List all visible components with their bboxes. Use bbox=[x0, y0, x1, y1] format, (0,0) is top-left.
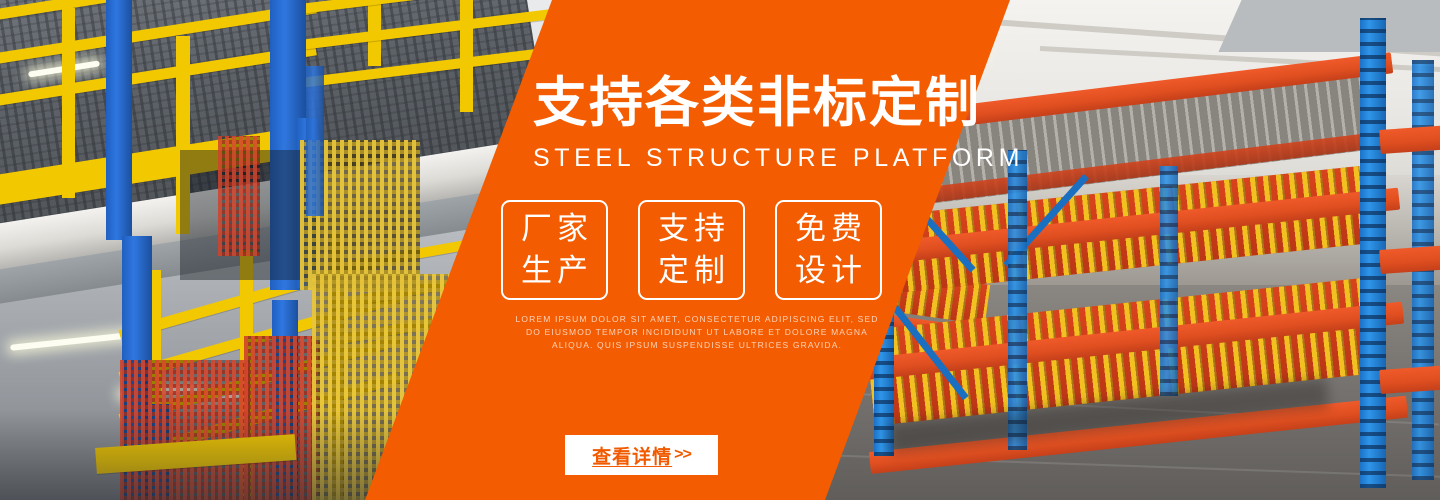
subtitle: STEEL STRUCTURE PLATFORM bbox=[533, 144, 1024, 172]
view-details-label: 查看详情 bbox=[592, 442, 672, 469]
badge-manufacturer: 厂家 生产 bbox=[501, 200, 608, 300]
feature-badges: 厂家 生产 支持 定制 免费 设计 bbox=[501, 200, 882, 300]
view-details-button[interactable]: 查看详情 >> bbox=[565, 435, 718, 475]
badge-customization: 支持 定制 bbox=[638, 200, 745, 300]
badge-line-1: 支持 bbox=[653, 208, 730, 250]
badge-line-1: 厂家 bbox=[516, 208, 593, 250]
badge-line-2: 生产 bbox=[516, 250, 593, 292]
headline: 支持各类非标定制 bbox=[533, 74, 981, 132]
promo-banner: 支持各类非标定制 STEEL STRUCTURE PLATFORM 厂家 生产 … bbox=[0, 0, 1440, 500]
chevron-right-icon: >> bbox=[674, 446, 691, 464]
badge-line-2: 定制 bbox=[653, 250, 730, 292]
badge-free-design: 免费 设计 bbox=[775, 200, 882, 300]
badge-line-2: 设计 bbox=[790, 250, 867, 292]
banner-content: 支持各类非标定制 STEEL STRUCTURE PLATFORM 厂家 生产 … bbox=[0, 0, 1440, 500]
description-text: LOREM IPSUM DOLOR SIT AMET, CONSECTETUR … bbox=[512, 313, 882, 352]
badge-line-1: 免费 bbox=[790, 208, 867, 250]
